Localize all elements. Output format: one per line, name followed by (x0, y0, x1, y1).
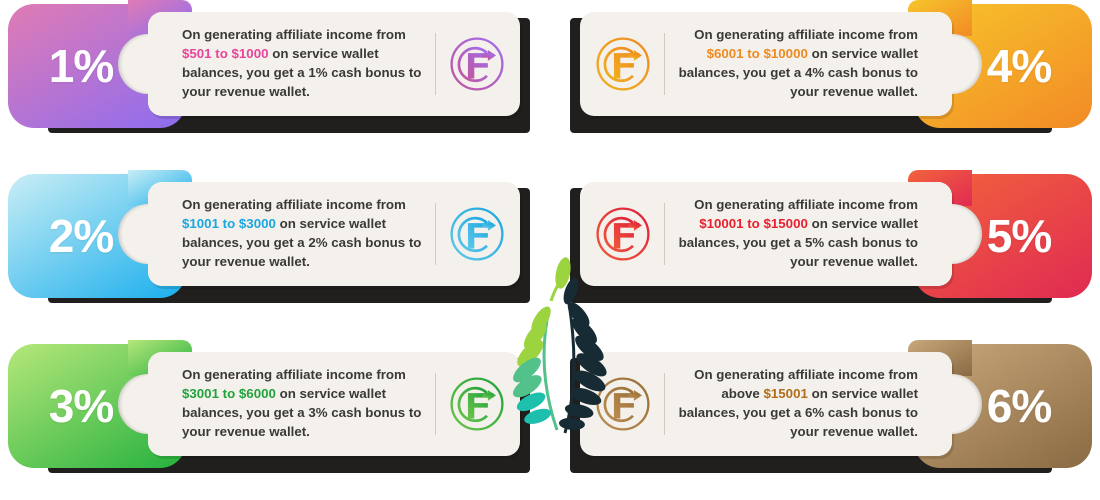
tier-card-5[interactable]: 5%On generating affiliate income from $1… (570, 170, 1100, 310)
tier-description: On generating affiliate income from $100… (677, 196, 918, 272)
panel-divider (664, 373, 665, 435)
income-range-amount: $501 to $1000 (182, 46, 269, 61)
info-panel: On generating affiliate income from $501… (148, 12, 520, 116)
info-panel: On generating affiliate income from $600… (580, 12, 952, 116)
income-range-amount: $15001 (764, 386, 808, 401)
tier-card-4[interactable]: 4%On generating affiliate income from $6… (570, 0, 1100, 140)
panel-divider (664, 203, 665, 265)
panel-divider (435, 33, 436, 95)
panel-divider (664, 33, 665, 95)
tier-description: On generating affiliate income from $501… (182, 26, 423, 102)
brand-f-arrow-logo (448, 35, 506, 93)
tier-description: On generating affiliate income from $300… (182, 366, 423, 442)
panel-divider (435, 203, 436, 265)
info-panel: On generating affiliate income from $100… (148, 182, 520, 286)
info-panel: On generating affiliate income from $300… (148, 352, 520, 456)
leafy-branch-illustration (505, 255, 615, 455)
bonus-percent-inline: 3% (308, 405, 327, 420)
bonus-percent-inline: 1% (308, 65, 327, 80)
tier-card-2[interactable]: 2%On generating affiliate income from $1… (0, 170, 530, 310)
brand-f-arrow-logo (448, 205, 506, 263)
bonus-percent-inline: 4% (805, 65, 824, 80)
income-range-amount: $10001 to $15000 (699, 216, 808, 231)
income-range-amount: $6001 to $10000 (707, 46, 808, 61)
tier-description: On generating affiliate income from abov… (677, 366, 918, 442)
info-panel: On generating affiliate income from abov… (580, 352, 952, 456)
bonus-percent-inline: 5% (805, 235, 824, 250)
tier-description: On generating affiliate income from $600… (677, 26, 918, 102)
brand-f-arrow-logo (448, 375, 506, 433)
tier-card-1[interactable]: 1%On generating affiliate income from $5… (0, 0, 530, 140)
income-range-amount: $3001 to $6000 (182, 386, 276, 401)
tier-description: On generating affiliate income from $100… (182, 196, 423, 272)
bonus-percent-inline: 2% (308, 235, 327, 250)
bonus-percent-inline: 6% (805, 405, 824, 420)
tier-card-3[interactable]: 3%On generating affiliate income from $3… (0, 340, 530, 480)
income-range-amount: $1001 to $3000 (182, 216, 276, 231)
info-panel: On generating affiliate income from $100… (580, 182, 952, 286)
panel-divider (435, 373, 436, 435)
tier-card-6[interactable]: 6%On generating affiliate income from ab… (570, 340, 1100, 480)
brand-f-arrow-logo (594, 35, 652, 93)
